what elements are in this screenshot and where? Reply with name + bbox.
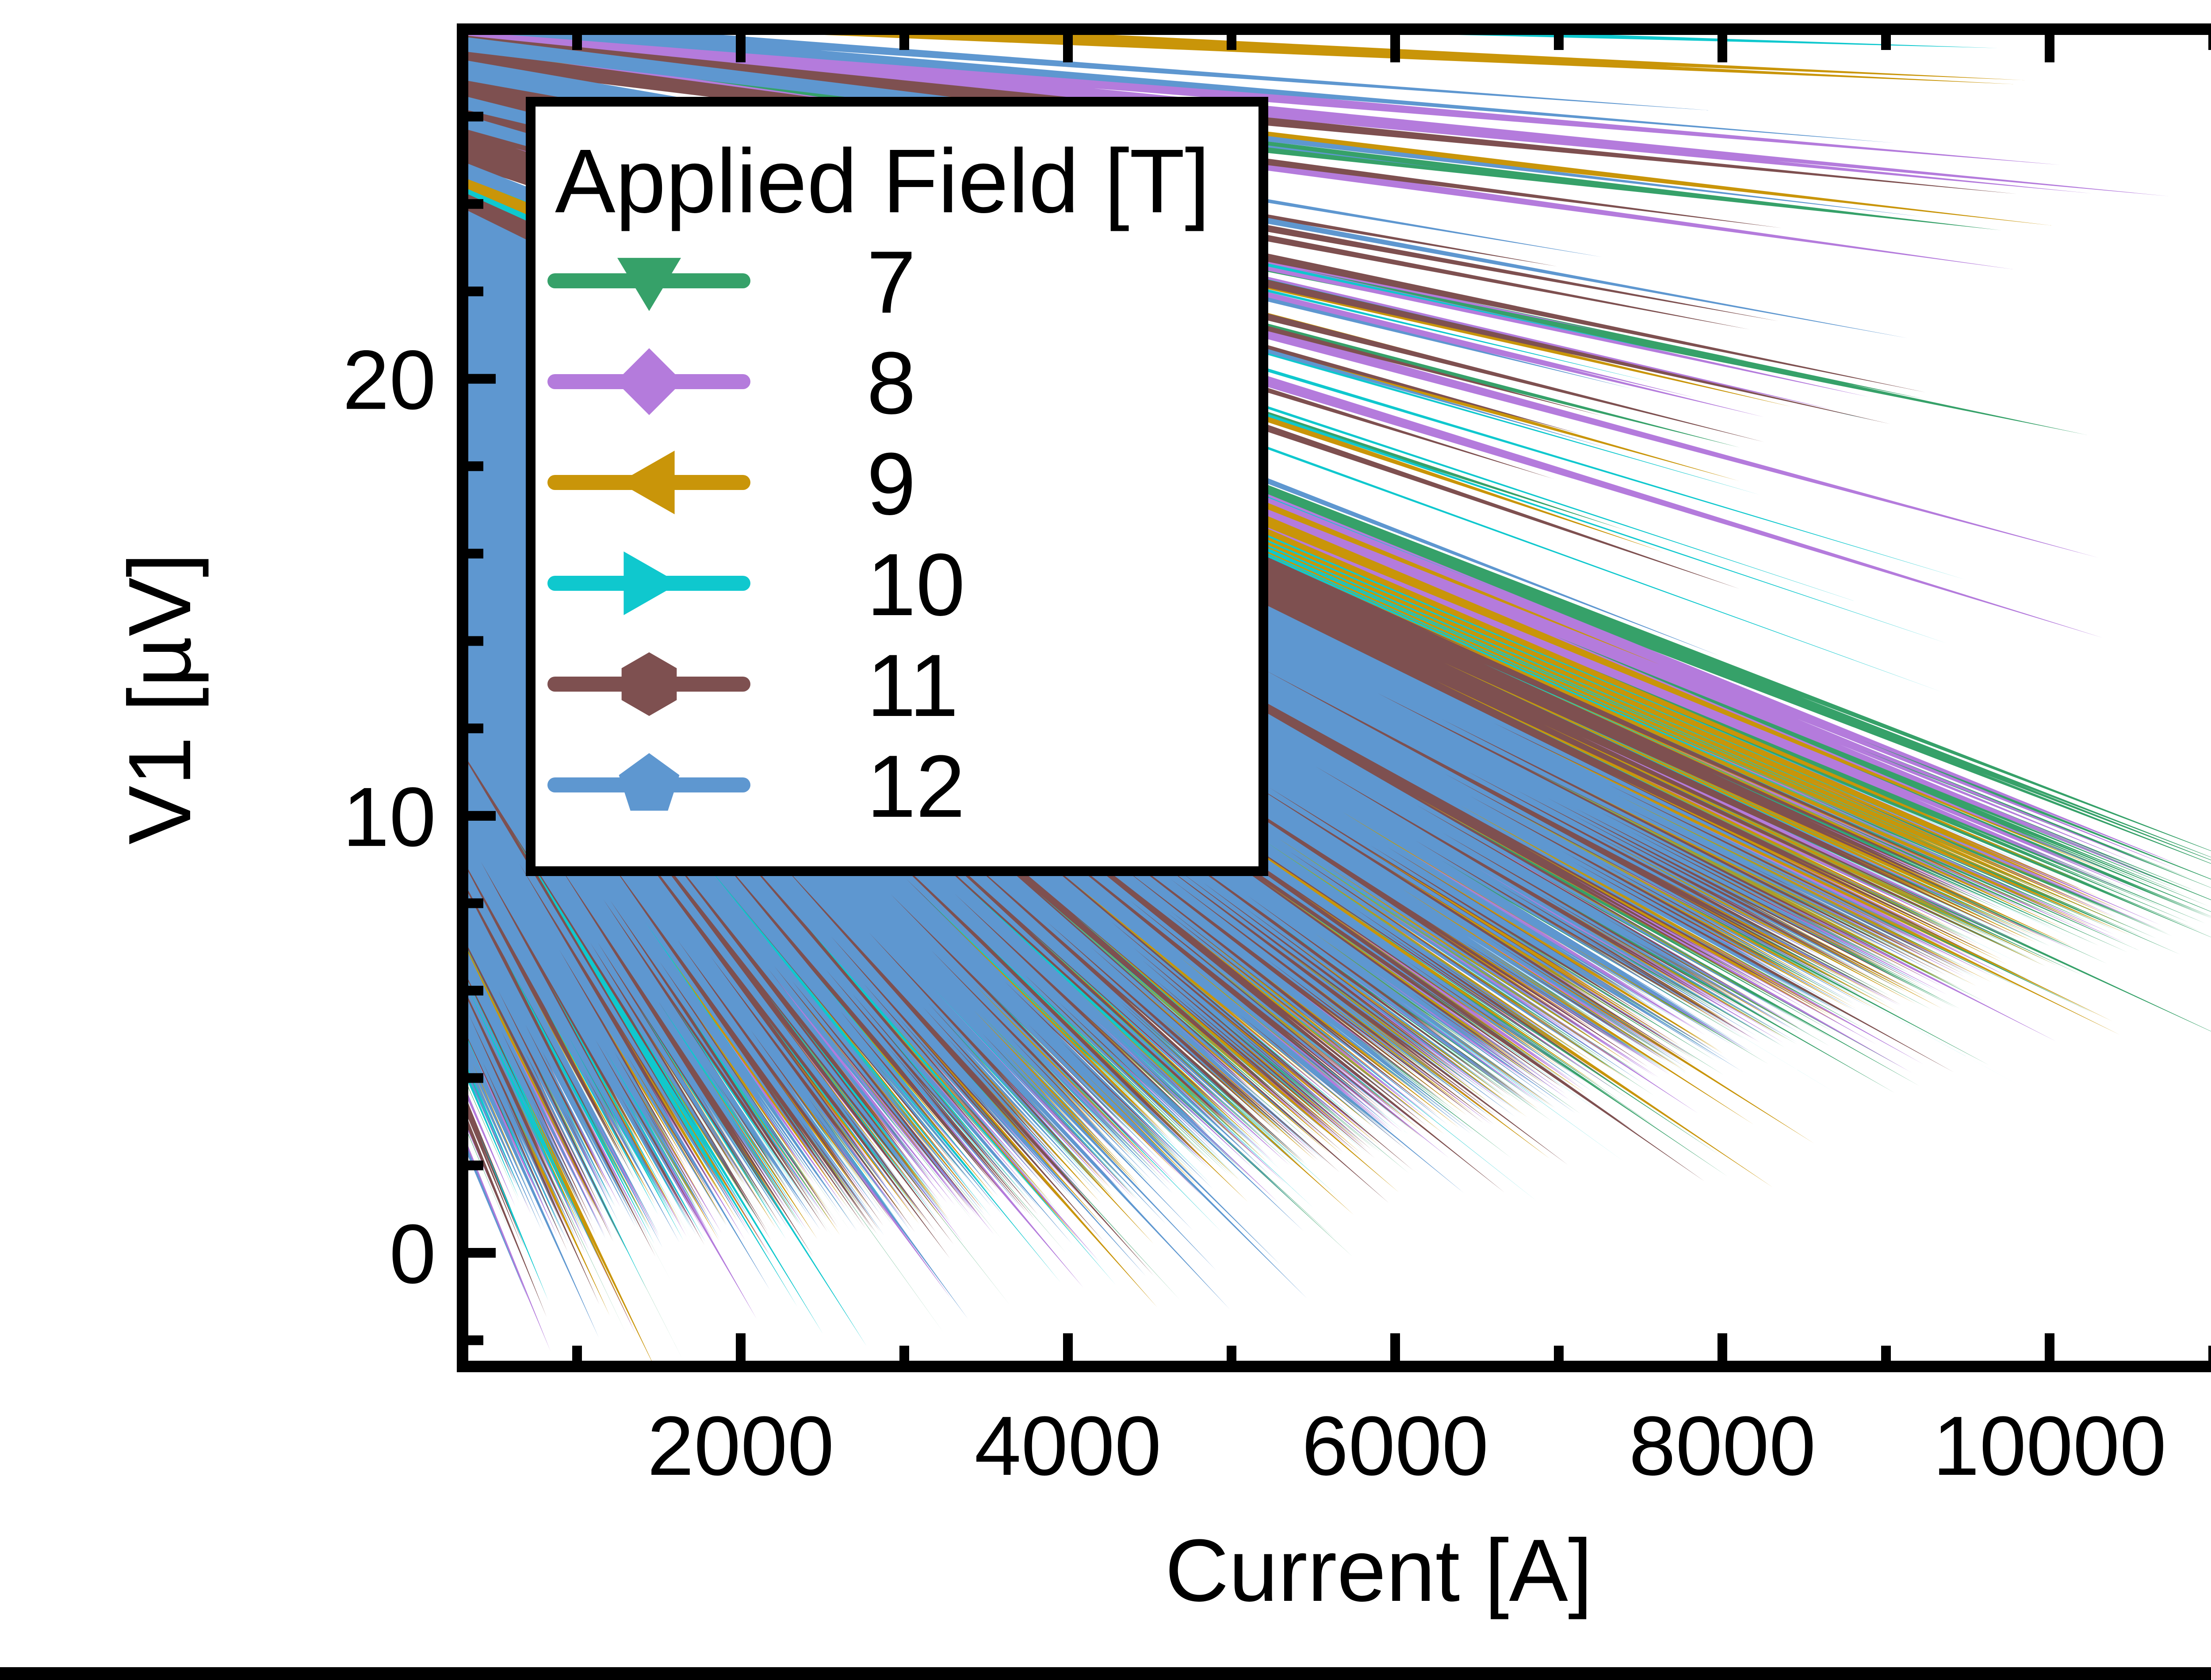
legend-title: Applied Field [T] <box>555 130 1210 232</box>
y-axis-label: V1 [µV] <box>111 553 209 845</box>
x-axis-label: Current [A] <box>1165 1521 1593 1620</box>
x-tick-label-4000: 4000 <box>975 1399 1162 1493</box>
legend-label-7: 7 <box>867 233 916 332</box>
legend-label-11: 11 <box>867 636 959 735</box>
legend-label-8: 8 <box>867 334 916 432</box>
bottom-black-bar <box>0 1667 2211 1680</box>
figure-root: 20004000600080001000001020 Current [A] V… <box>0 0 2211 1680</box>
legend[interactable]: Applied Field [T]789101112 <box>531 102 1263 871</box>
y-tick-label-0: 0 <box>389 1207 436 1301</box>
legend-label-12: 12 <box>867 737 965 836</box>
legend-label-9: 9 <box>867 435 916 533</box>
x-tick-label-8000: 8000 <box>1629 1399 1816 1493</box>
chart-canvas: 20004000600080001000001020 Current [A] V… <box>0 0 2211 1680</box>
x-tick-label-6000: 6000 <box>1302 1399 1489 1493</box>
x-tick-label-10000: 10000 <box>1933 1399 2166 1493</box>
y-tick-label-20: 20 <box>343 333 436 427</box>
legend-label-10: 10 <box>867 536 965 634</box>
x-tick-label-2000: 2000 <box>647 1399 834 1493</box>
y-tick-label-10: 10 <box>343 770 436 864</box>
